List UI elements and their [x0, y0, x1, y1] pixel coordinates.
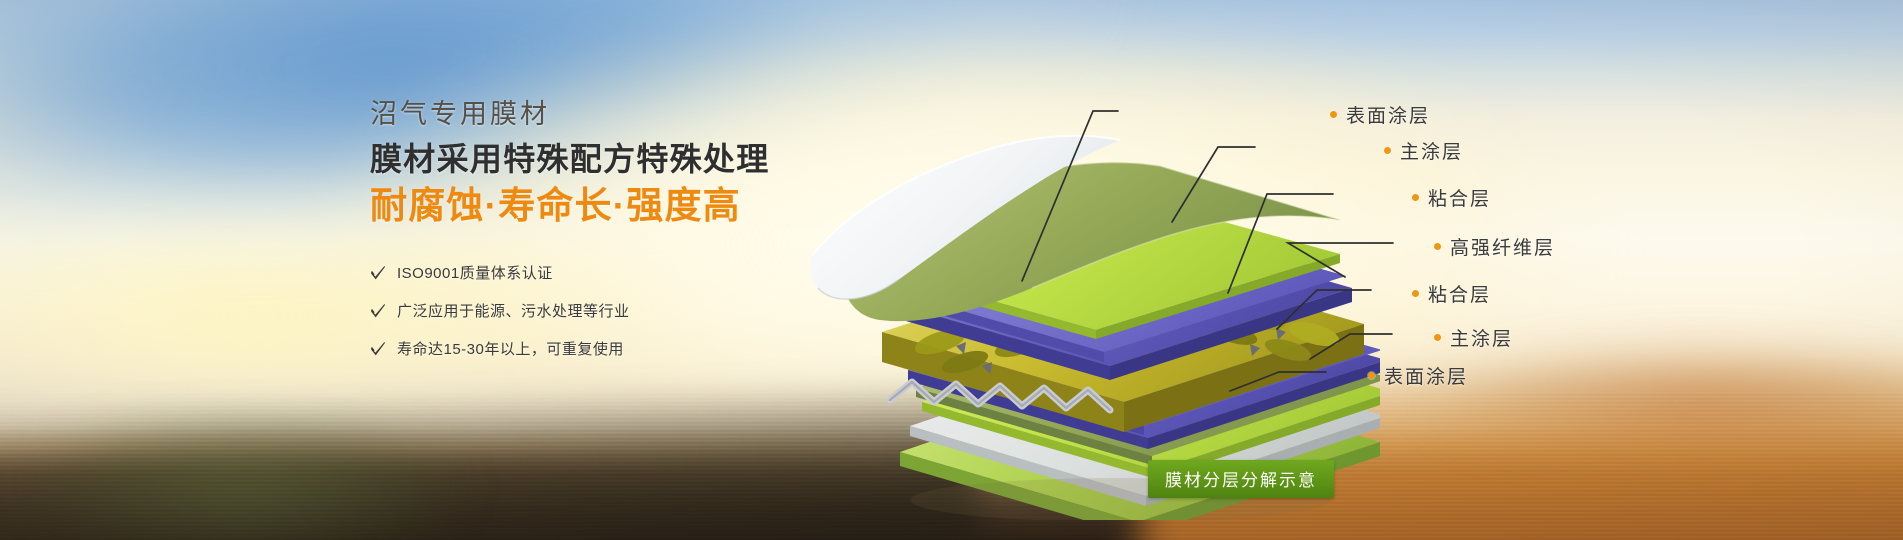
- callout-label: 粘合层: [1428, 280, 1491, 307]
- callout-adhesive-top: 粘合层: [1412, 184, 1491, 211]
- illustration-caption-badge: 膜材分层分解示意: [1148, 460, 1334, 498]
- feature-label: ISO9001质量体系认证: [397, 262, 553, 283]
- feature-label: 广泛应用于能源、污水处理等行业: [397, 300, 630, 321]
- check-icon: [370, 341, 386, 357]
- callout-surface-coat-top: 表面涂层: [1330, 101, 1430, 128]
- callout-dot-icon: [1330, 111, 1337, 118]
- callout-dot-icon: [1384, 147, 1391, 154]
- callout-label: 高强纤维层: [1450, 233, 1555, 260]
- callout-dot-icon: [1368, 372, 1375, 379]
- callout-label: 粘合层: [1428, 184, 1491, 211]
- check-icon: [370, 303, 386, 319]
- callout-dot-icon: [1412, 290, 1419, 297]
- callout-dot-icon: [1412, 194, 1419, 201]
- callout-label: 主涂层: [1450, 324, 1513, 351]
- callout-dot-icon: [1434, 243, 1441, 250]
- feature-label: 寿命达15-30年以上，可重复使用: [397, 338, 624, 359]
- callout-fiber-core: 高强纤维层: [1434, 233, 1555, 260]
- callout-label: 表面涂层: [1346, 101, 1430, 128]
- callout-label: 表面涂层: [1384, 362, 1468, 389]
- hero-banner: 沼气专用膜材 膜材采用特殊配方特殊处理 耐腐蚀·寿命长·强度高 ISO9001质…: [0, 0, 1903, 540]
- membrane-layers-illustration: [640, 70, 1380, 520]
- callout-adhesive-bottom: 粘合层: [1412, 280, 1491, 307]
- callout-surface-coat-bottom: 表面涂层: [1368, 362, 1468, 389]
- callout-main-coat-top: 主涂层: [1384, 137, 1463, 164]
- callout-main-coat-bottom: 主涂层: [1434, 324, 1513, 351]
- callout-dot-icon: [1434, 334, 1441, 341]
- check-icon: [370, 265, 386, 281]
- callout-label: 主涂层: [1400, 137, 1463, 164]
